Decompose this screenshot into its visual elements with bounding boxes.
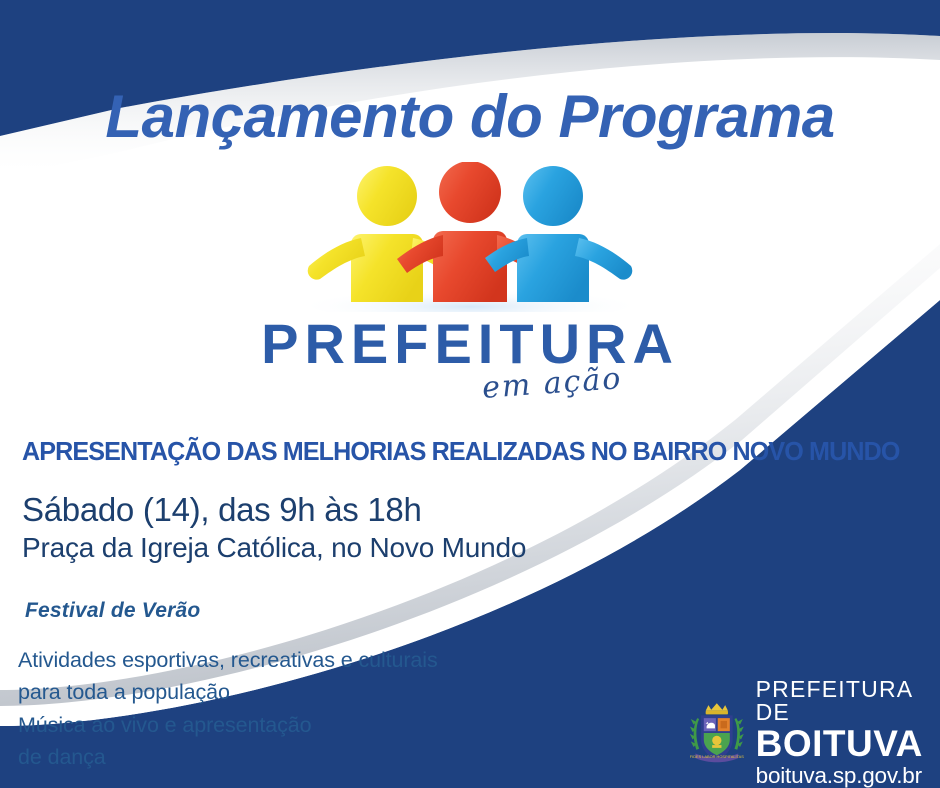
figure-yellow [308,166,455,302]
boituva-coat-of-arms-icon: FIDES LABOR HOSPITALITAS [688,695,746,771]
signature-city-name: BOITUVA [756,725,940,762]
signature-text: PREFEITURA DE BOITUVA boituva.sp.gov.br [756,678,940,788]
figure-blue [485,166,632,302]
program-logo: PREFEITURA em ação [0,162,940,407]
detail-line: de dança [18,741,438,773]
detail-line: para toda a população [18,676,438,708]
event-datetime: Sábado (14), das 9h às 18h [22,489,422,531]
page-title: Lançamento do Programa [0,86,940,148]
detail-line: Música ao vivo e apresentação [18,709,438,741]
festival-title: Festival de Verão [25,599,200,623]
svg-text:FIDES LABOR HOSPITALITAS: FIDES LABOR HOSPITALITAS [690,754,745,759]
poster: Lançamento do Programa [0,0,940,788]
signature-website: boituva.sp.gov.br [756,765,940,788]
subheadline: APRESENTAÇÃO DAS MELHORIAS REALIZADAS NO… [22,438,909,466]
event-location: Praça da Igreja Católica, no Novo Mundo [22,530,526,566]
three-people-icon [295,162,645,312]
city-hall-signature: FIDES LABOR HOSPITALITAS PREFEITURA DE B… [688,678,940,788]
signature-prefeitura-de: PREFEITURA DE [756,678,940,724]
brand-wordmark: PREFEITURA [0,316,940,372]
event-details: Atividades esportivas, recreativas e cul… [18,644,438,774]
detail-line: Atividades esportivas, recreativas e cul… [18,644,438,676]
